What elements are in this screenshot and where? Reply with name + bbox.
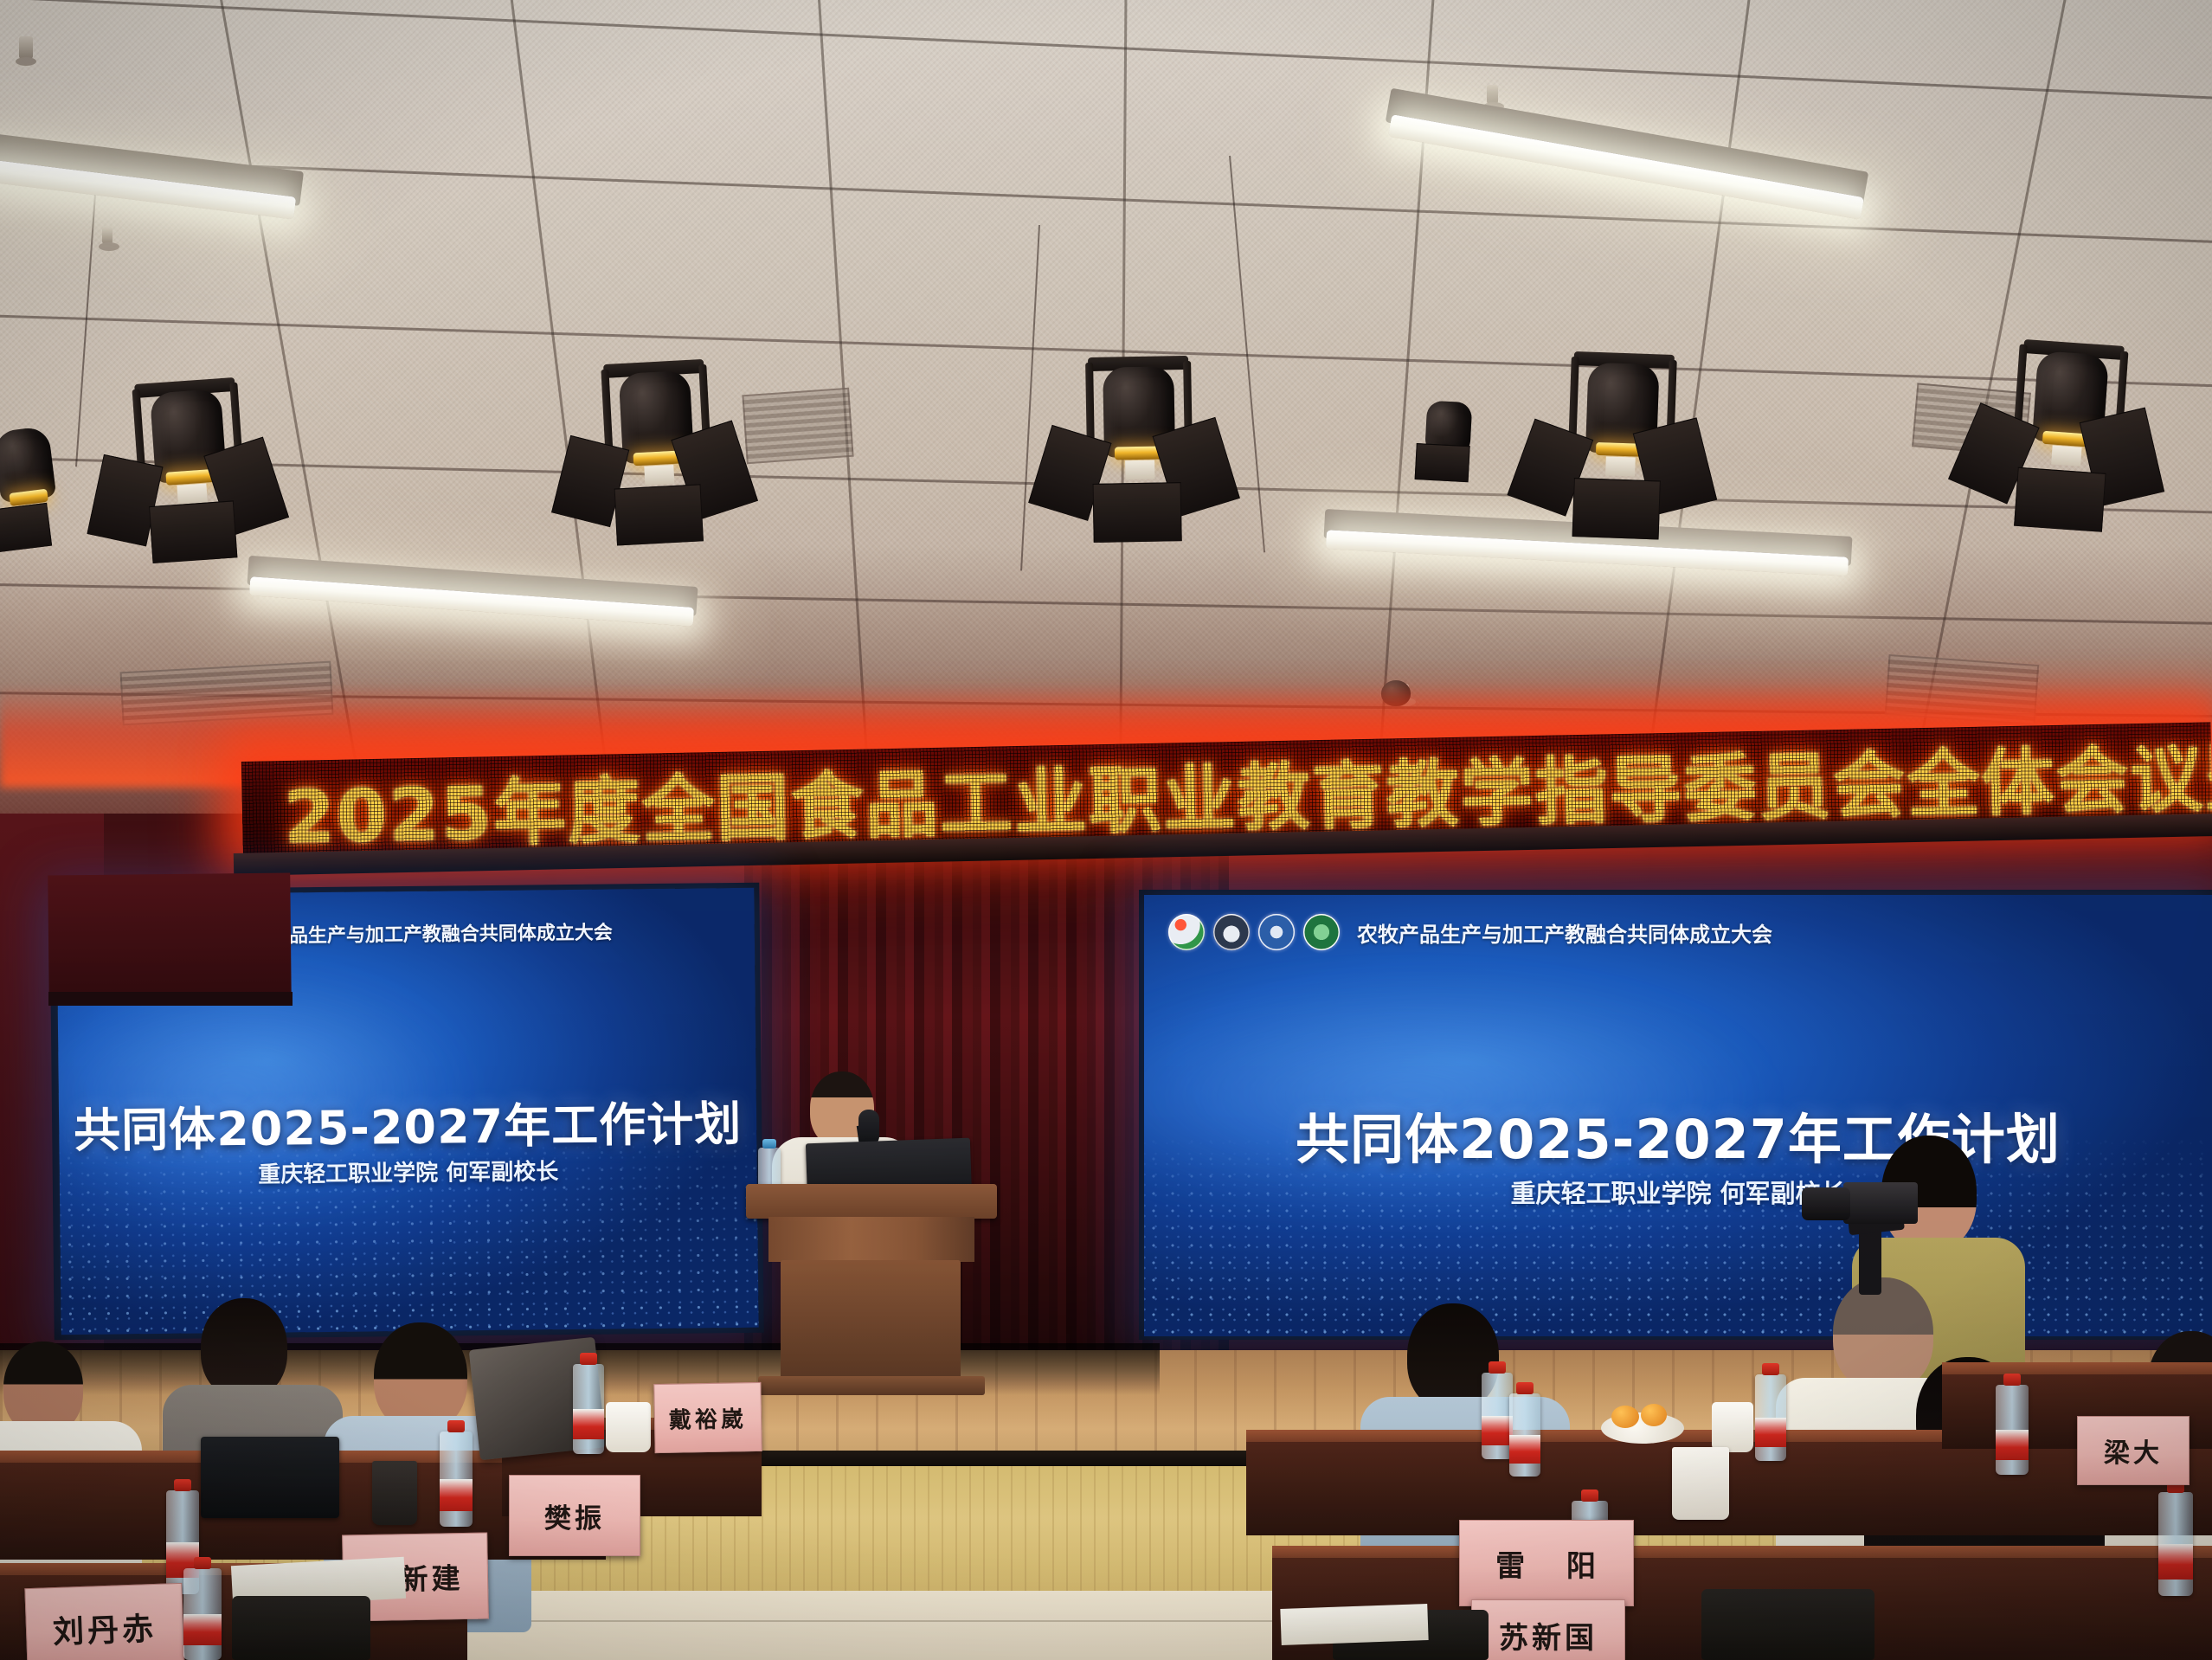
fruit-item [1611,1406,1639,1428]
spotlight-yoke-arm [132,389,145,469]
person-head [201,1298,287,1399]
name-placard-text: 戴裕崴 [669,1401,748,1435]
stage-spotlight [128,376,252,549]
bottle-cap [1516,1382,1534,1394]
stage-spotlight [1562,351,1681,519]
name-placard-text: 樊振 [544,1496,605,1535]
stage-spotlight [1082,356,1197,522]
right-screen-header: 农牧产品生产与加工产教融合共同体成立大会 [1168,914,1772,950]
bottle-cap [2003,1374,2021,1386]
right-projection-screen[interactable]: 农牧产品生产与加工产教融合共同体成立大会 共同体2025-2027年工作计划 重… [1144,895,2212,1336]
bottle-cap [447,1420,465,1432]
name-placard-text: 苏新国 [1499,1614,1598,1657]
stage-spotlight [597,359,718,530]
fruit-item [1641,1404,1667,1426]
sprinkler-head-icon [102,227,113,244]
bottle-label [183,1614,222,1645]
bottle-label [1996,1430,2029,1460]
audience-chair[interactable] [232,1596,370,1660]
spotlight-neck [1125,460,1154,480]
tea-mug [1712,1402,1753,1452]
spotlight-barn-door [614,484,704,545]
spotlight-yoke-arm [1085,363,1095,442]
water-bottle [1996,1385,2029,1475]
stage-spotlight-small [1411,389,1485,488]
sprinkler-head-icon [19,36,33,59]
logo-landscape-sun-icon [1168,914,1205,950]
spotlight-barn-door [1572,478,1661,539]
water-bottle [440,1432,473,1527]
spotlight-neck [644,465,674,486]
stage-spotlight [2005,338,2132,512]
name-placard: 苏新国 [1471,1599,1625,1660]
bottle-cap [1762,1363,1779,1375]
logo-blue-emblem-icon [1258,914,1295,950]
name-placard: 雷 阳 [1459,1520,1634,1606]
spotlight-neck [2051,446,2081,466]
name-placard-text: 刘丹赤 [52,1604,158,1652]
coffee-cup [372,1461,417,1525]
document-papers [1280,1604,1428,1645]
spotlight-barn-door [1093,482,1182,543]
bottle-label [2158,1544,2193,1580]
right-screen-header-text: 农牧产品生产与加工产教融合共同体成立大会 [1357,917,1772,948]
ceiling-vent [742,388,853,464]
screen-dot-pattern [1144,1133,2212,1336]
person-head [1833,1277,1933,1392]
spotlight-barn-door [0,503,52,554]
camera-gimbal [1859,1229,1881,1295]
name-placard-text: 雷 阳 [1495,1542,1611,1585]
bottle-cap [1581,1489,1598,1502]
podium-foot [758,1376,985,1395]
spotlight-barn-door [1415,443,1470,482]
spotlight-yoke-arm [2014,344,2027,424]
sprinkler-head-icon [1487,85,1498,104]
water-bottle [1755,1374,1786,1461]
spotlight-yoke-arm [1569,357,1579,436]
screen-dot-pattern [59,1125,758,1335]
video-camera-lens-icon [1802,1187,1850,1220]
name-placard: 戴裕崴 [653,1382,762,1453]
water-bottle [1482,1373,1513,1459]
name-placard: 樊振 [509,1475,640,1556]
logo-green-emblem-icon [1303,914,1340,950]
logo-dark-emblem-icon [1213,914,1250,950]
bottle-label [440,1479,473,1511]
bottle-cap [1489,1361,1506,1374]
bottle-label [1755,1418,1786,1447]
tea-mug [606,1402,651,1452]
water-bottle [2158,1492,2193,1596]
bottle-label [1509,1435,1540,1464]
name-placard: 刘丹赤 [24,1583,184,1660]
podium-column [781,1260,961,1381]
truss-occluder [48,873,292,1006]
spotlight-neck [177,484,207,505]
spotlight-yoke-arm [601,370,613,449]
bottle-label [1482,1416,1513,1445]
paper-cup [1672,1447,1729,1520]
water-bottle [573,1364,604,1454]
left-screen-header: 牧产品生产与加工产教融合共同体成立大会 [251,917,613,949]
podium-top [746,1184,997,1219]
name-placard-text: 梁大 [2104,1432,2163,1470]
bottle-cap [194,1557,211,1569]
bottle-label [573,1409,604,1439]
water-bottle [1509,1393,1540,1477]
podium-body [768,1217,974,1262]
spotlight-barn-door [2014,467,2106,532]
name-placard: 梁大 [2077,1416,2189,1485]
water-bottle [183,1568,222,1660]
bottle-cap [174,1479,191,1491]
truss-occluder-bar [48,992,293,1006]
conference-hall-photo: 2025年度全国食品工业职业教育教学指导委员会全体会议暨农牧产品 牧产品生产与加… [0,0,2212,1660]
desk-monitor [201,1437,339,1518]
left-screen-header-text: 牧产品生产与加工产教融合共同体成立大会 [251,917,613,949]
audience-table-skirt [1246,1442,2212,1535]
spotlight-neck [1605,456,1636,476]
bottle-cap [762,1139,776,1148]
bottle-cap [580,1353,597,1365]
video-camera-body [1843,1182,1918,1224]
spotlight-barn-door [149,500,237,563]
audience-chair[interactable] [1701,1589,1874,1660]
